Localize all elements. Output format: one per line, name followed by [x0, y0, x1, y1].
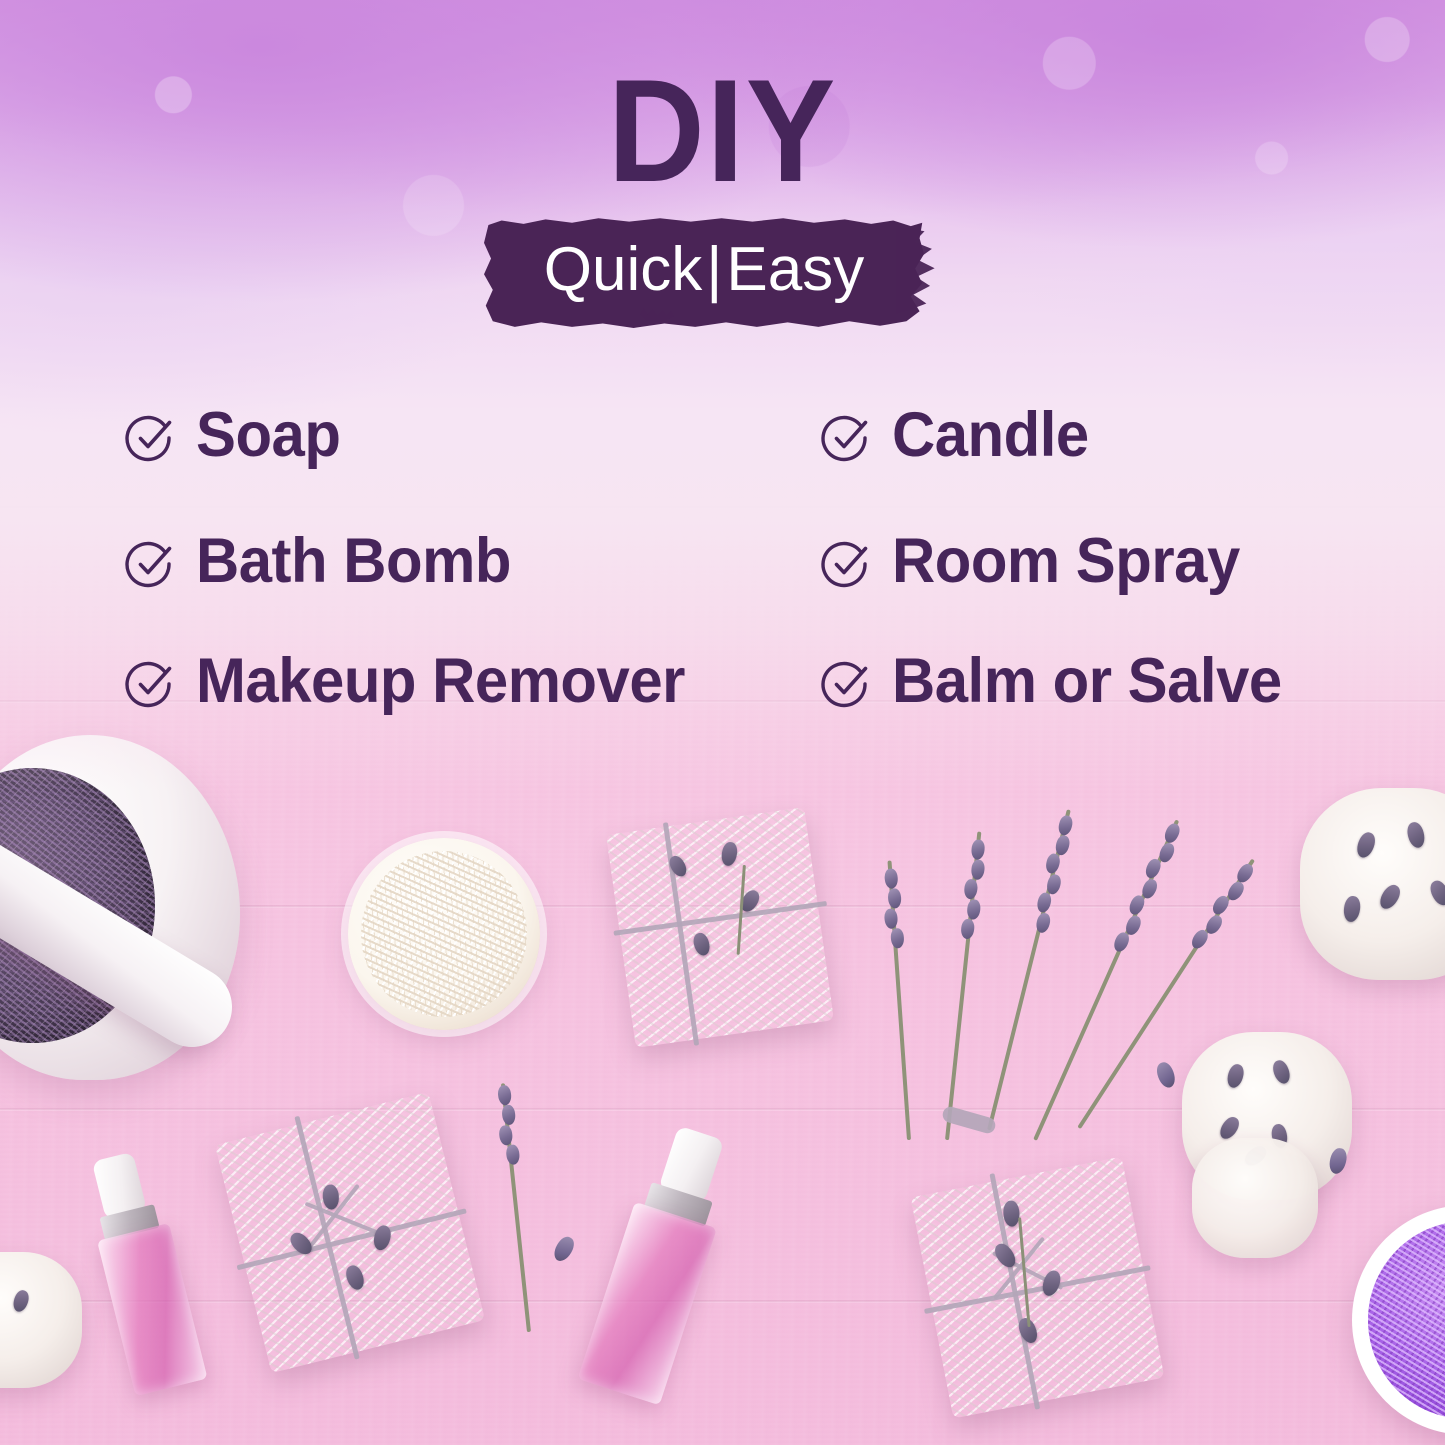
check-circle-icon: [820, 658, 872, 710]
quick-easy-banner: Quick | Easy: [484, 216, 924, 328]
banner-left-word: Quick: [544, 234, 702, 305]
checklist-item-room-spray: Room Spray: [820, 530, 1258, 593]
page-title: DIY: [58, 58, 1387, 204]
checklist-item-bath-bomb: Bath Bomb: [124, 530, 527, 593]
checklist-label: Makeup Remover: [196, 650, 685, 713]
check-circle-icon: [820, 412, 872, 464]
banner-text-row: Quick | Easy: [484, 216, 924, 328]
banner-right-word: Easy: [726, 234, 864, 305]
checklist-label: Bath Bomb: [196, 530, 511, 593]
checklist-item-soap: Soap: [124, 404, 348, 467]
banner-separator: |: [702, 234, 726, 305]
checklist-label: Soap: [196, 404, 340, 467]
check-circle-icon: [124, 538, 176, 590]
checklist-item-makeup-remover: Makeup Remover: [124, 650, 711, 713]
checklist-item-candle: Candle: [820, 404, 1099, 467]
checklist-label: Balm or Salve: [892, 650, 1282, 713]
checklist-label: Room Spray: [892, 530, 1240, 593]
checklist-label: Candle: [892, 404, 1089, 467]
check-circle-icon: [124, 658, 176, 710]
diy-lavender-poster: DIY Quick | Easy Soap: [0, 0, 1445, 1445]
check-circle-icon: [820, 538, 872, 590]
check-circle-icon: [124, 412, 176, 464]
checklist-item-balm-or-salve: Balm or Salve: [820, 650, 1302, 713]
